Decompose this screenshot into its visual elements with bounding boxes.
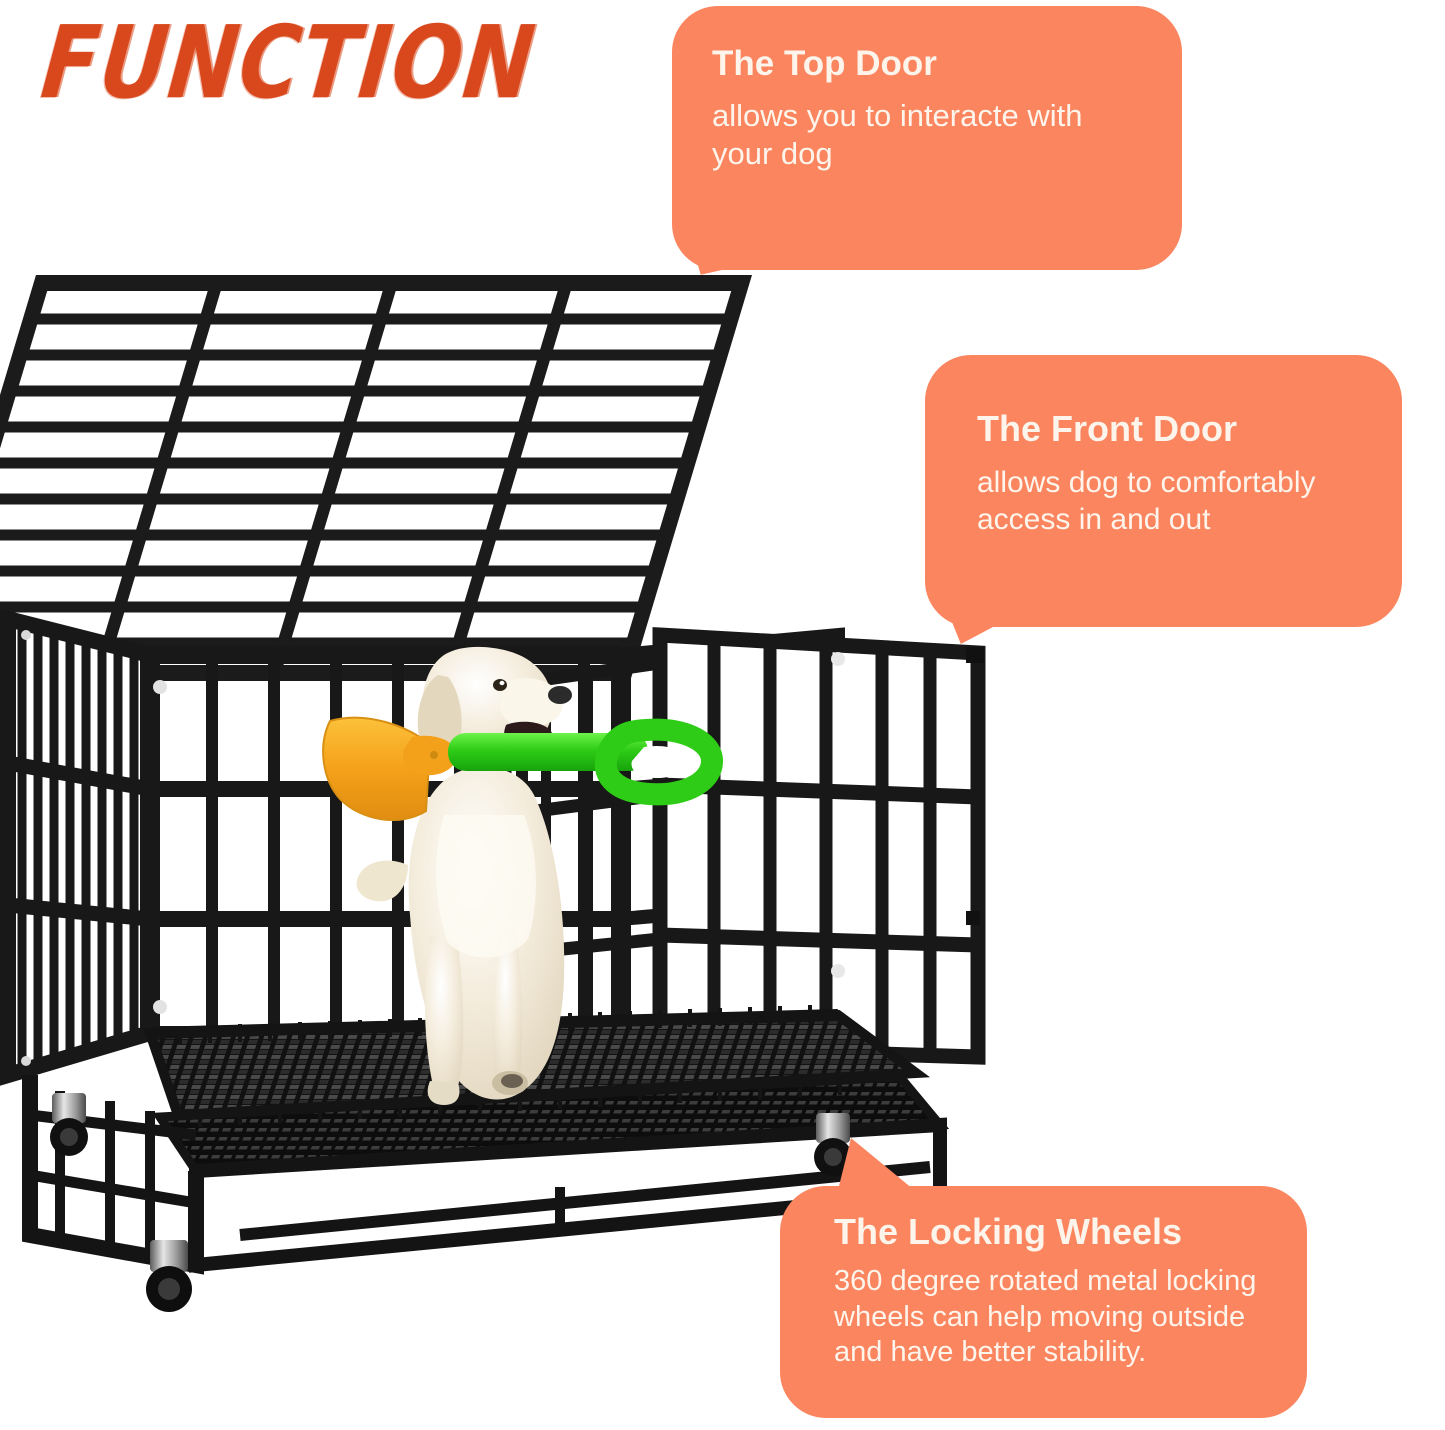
- cage-left-panel: [8, 619, 150, 1075]
- callout-locking-wheels: The Locking Wheels 360 degree rotated me…: [780, 1186, 1307, 1418]
- door-latch-top-icon: [831, 652, 845, 666]
- callout-front-door-title: The Front Door: [977, 409, 1372, 449]
- callout-locking-wheels-tail: [837, 1138, 933, 1194]
- callout-front-door-tail: [947, 610, 1039, 644]
- callout-top-door-title: The Top Door: [712, 44, 1146, 83]
- callout-top-door-body: allows you to interacte with your dog: [712, 97, 1146, 173]
- callout-front-door: The Front Door allows dog to comfortably…: [925, 355, 1402, 627]
- door-latch-bottom-icon: [831, 964, 845, 978]
- cage-front-door[interactable]: [660, 635, 984, 1057]
- callout-locking-wheels-title: The Locking Wheels: [834, 1212, 1285, 1252]
- callout-locking-wheels-body: 360 degree rotated metal locking wheels …: [834, 1264, 1285, 1370]
- dog-nose: [548, 686, 572, 704]
- page-title: FUNCTION: [37, 14, 540, 114]
- cage-top-lid[interactable]: [0, 283, 742, 673]
- callout-top-door: The Top Door allows you to interacte wit…: [672, 6, 1182, 270]
- callout-front-door-body: allows dog to comfortably access in and …: [977, 465, 1372, 538]
